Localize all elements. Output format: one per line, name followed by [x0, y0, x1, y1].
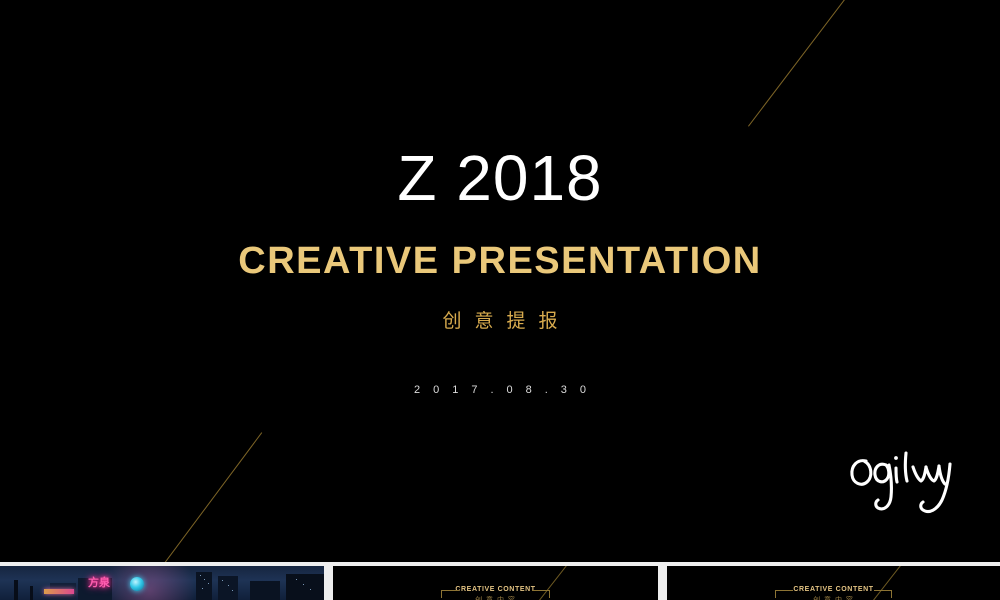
building-silhouette [218, 576, 238, 600]
antenna-silhouette [30, 586, 33, 600]
heading-rule-right [874, 590, 892, 591]
night-city-image: 方泉 [0, 566, 324, 600]
heading-rule-right [532, 590, 550, 591]
window-light [228, 585, 229, 586]
slide-subtitle-chinese[interactable]: 创意提报 [0, 310, 1000, 334]
neon-globe-icon [130, 577, 144, 591]
preview-heading: CREATIVE CONTENT [667, 586, 1000, 594]
thumbnail-item[interactable]: CREATIVE CONTENT 创 意 内 容 [667, 566, 1000, 600]
slide-title[interactable]: Z 2018 [0, 146, 1000, 210]
building-silhouette [196, 572, 212, 600]
preview-heading: CREATIVE CONTENT [333, 586, 658, 594]
window-light [222, 580, 223, 581]
creative-content-slide-preview: CREATIVE CONTENT 创 意 内 容 [333, 566, 658, 600]
creative-content-slide-preview: CREATIVE CONTENT 创 意 内 容 [667, 566, 1000, 600]
presentation-editor: Z 2018 CREATIVE PRESENTATION 创意提报 2017.0… [0, 0, 1000, 600]
window-light [232, 590, 233, 591]
neon-sign-bar [44, 589, 74, 594]
window-light [202, 588, 203, 589]
thumbnail-item[interactable]: 方泉 [0, 566, 324, 600]
thumbnail-list: 方泉 CREATIVE CONTENT 创 意 内 容 [0, 566, 1000, 600]
window-light [200, 575, 201, 576]
radio-tower-silhouette [14, 580, 18, 600]
building-silhouette [250, 581, 280, 600]
thumbnail-item[interactable]: CREATIVE CONTENT 创 意 内 容 [333, 566, 658, 600]
window-light [296, 579, 297, 580]
decorative-diagonal-line [539, 566, 571, 600]
window-light [204, 579, 205, 580]
building-silhouette [286, 574, 324, 600]
window-light [208, 583, 209, 584]
ogilvy-logo [846, 439, 958, 517]
window-light [303, 584, 304, 585]
slide-canvas[interactable]: Z 2018 CREATIVE PRESENTATION 创意提报 2017.0… [0, 0, 1000, 562]
heading-rule-left [775, 590, 793, 591]
slide-thumbnail-strip[interactable]: 方泉 CREATIVE CONTENT 创 意 内 容 [0, 562, 1000, 600]
decorative-diagonal-line [873, 566, 905, 600]
slide-date[interactable]: 2017.08.30 [0, 383, 1000, 397]
decorative-diagonal-line-top-right [748, 0, 847, 127]
heading-rule-left [441, 590, 459, 591]
decorative-diagonal-line-bottom-left [164, 432, 262, 562]
neon-sign-text: 方泉 [88, 578, 110, 589]
window-light [310, 589, 311, 590]
slide-subtitle[interactable]: CREATIVE PRESENTATION [0, 240, 1000, 282]
